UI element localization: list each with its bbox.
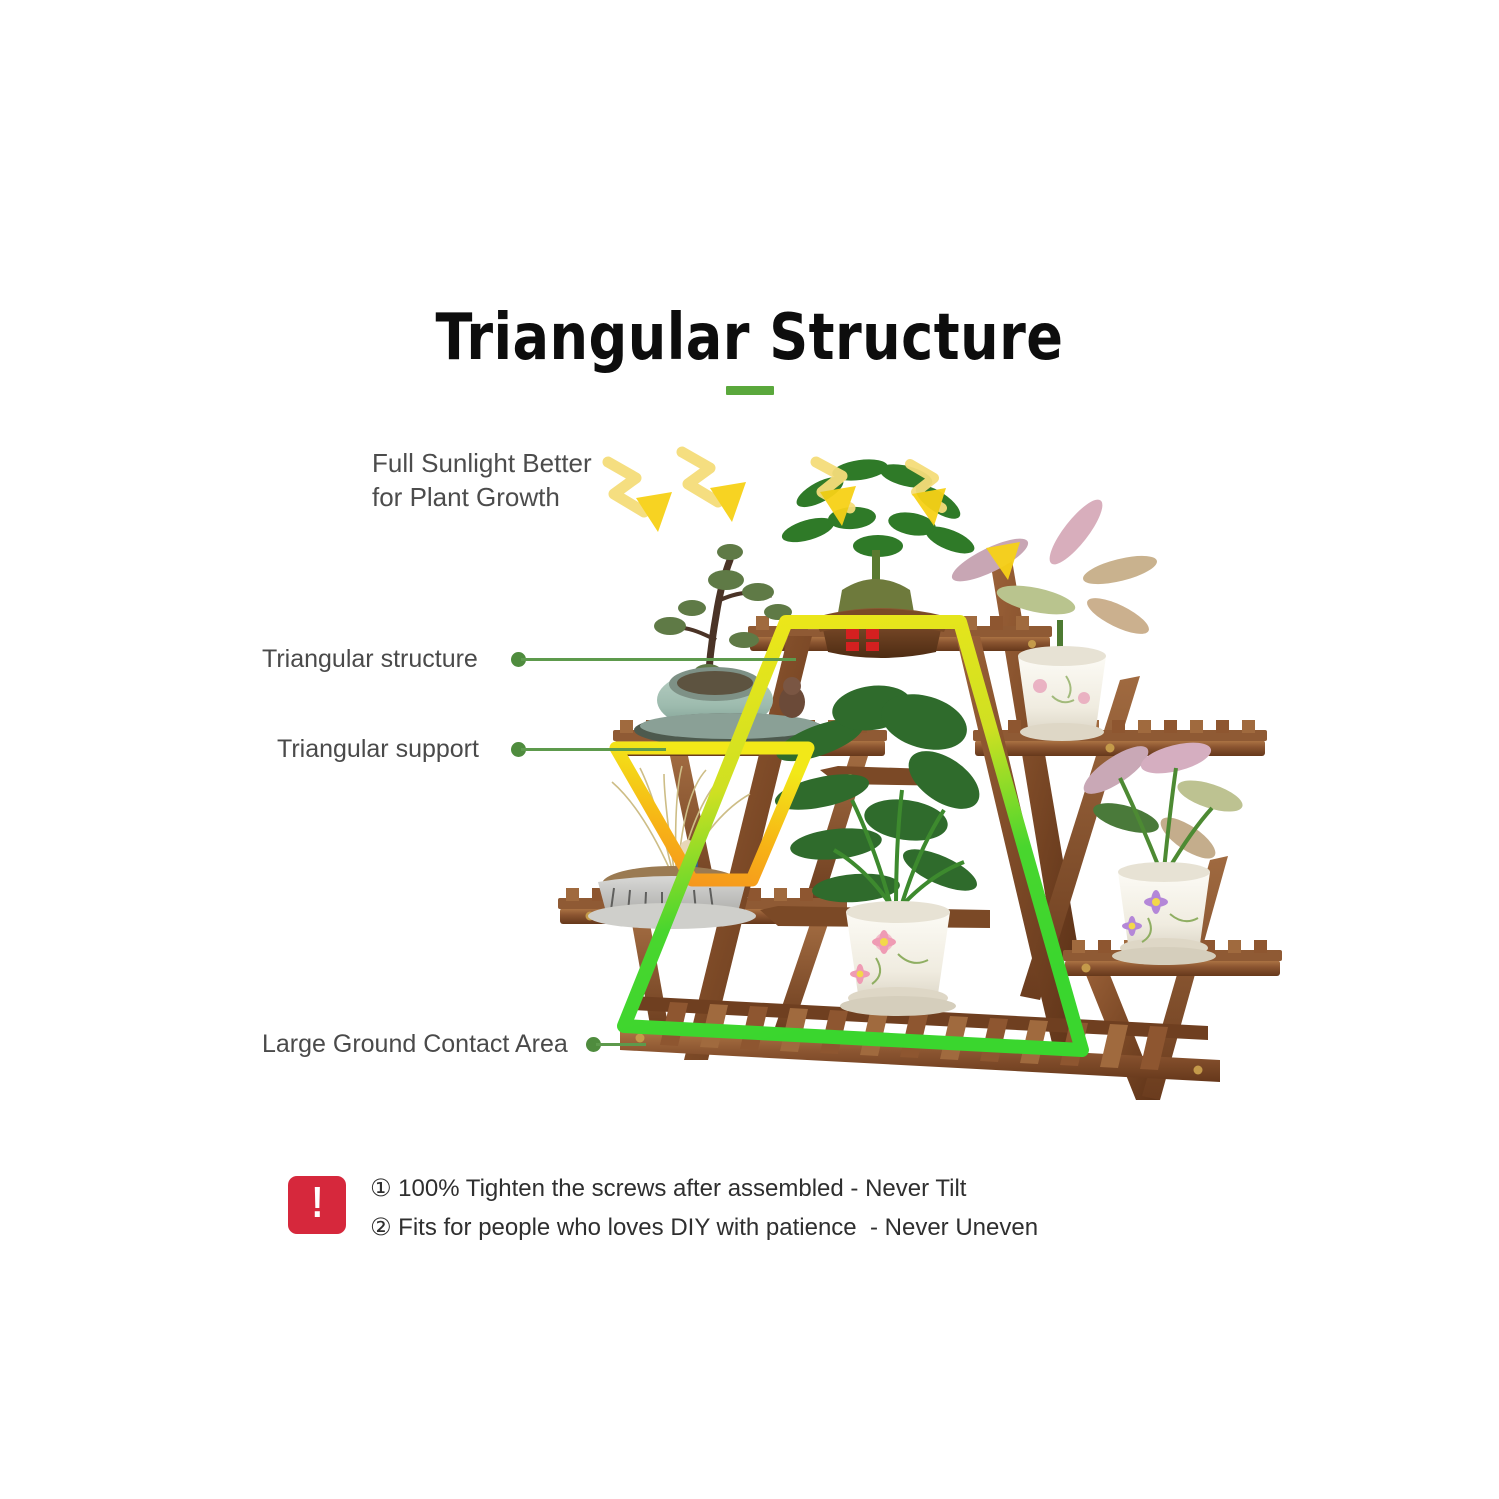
note-item: ② Fits for people who loves DIY with pat… <box>370 1213 1038 1242</box>
note-item: ① 100% Tighten the screws after assemble… <box>370 1174 1038 1203</box>
callout-ground-contact-area: Large Ground Contact Area <box>262 1028 568 1061</box>
sunlight-arrow <box>608 462 672 532</box>
callout-triangular-structure: Triangular structure <box>262 643 478 676</box>
page-title-block: Triangular Structure <box>0 306 1499 395</box>
sunlight-arrow <box>682 452 746 522</box>
plant-pink-aglaonema-low <box>1077 737 1246 965</box>
wooden-triangular-plant-stand <box>520 440 1280 1120</box>
page-title: Triangular Structure <box>45 306 1454 370</box>
assembly-notes: ! ① 100% Tighten the screws after assemb… <box>288 1172 1038 1242</box>
shelf-tier-right-upper <box>973 720 1267 756</box>
leader-line-ground-contact-area <box>596 1043 646 1046</box>
title-underline-accent <box>726 386 774 395</box>
exclamation-glyph: ! <box>311 1181 323 1225</box>
leader-line-triangular-support <box>521 748 666 751</box>
callout-triangular-support: Triangular support <box>277 733 479 766</box>
leader-line-triangular-structure <box>521 658 796 661</box>
note-list: ① 100% Tighten the screws after assemble… <box>370 1172 1038 1242</box>
callout-full-sunlight: Full Sunlight Better for Plant Growth <box>372 447 592 515</box>
infographic-canvas: Triangular Structure <box>0 0 1499 1499</box>
warning-exclamation-icon: ! <box>288 1176 346 1234</box>
